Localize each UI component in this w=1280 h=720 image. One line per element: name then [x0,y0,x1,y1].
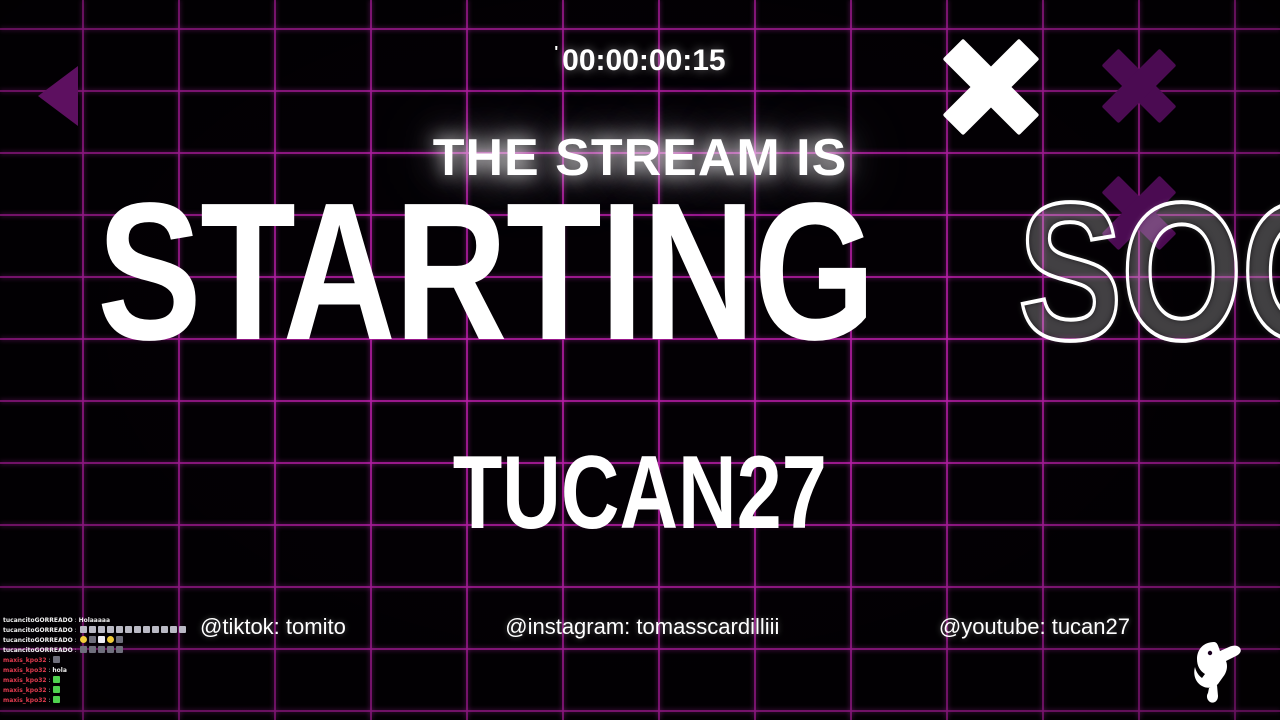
timer-tick-mark: ' [554,46,558,60]
chat-overlay[interactable]: tucancitoGORREADO : HolaaaaatucancitoGOR… [0,616,200,706]
chat-emote-icon [98,646,105,653]
chat-line: maxis_kpo32 : hola [0,666,200,676]
chat-emote-icon [116,646,123,653]
chat-emote-icon [53,656,60,663]
chat-separator: : [47,677,53,684]
chat-username: tucancitoGORREADO [3,617,73,624]
chat-line: tucancitoGORREADO : [0,636,200,646]
chat-line: maxis_kpo32 : [0,696,200,706]
headline-word-soon: SOON [1018,192,1280,352]
social-handle-youtube: @youtube: tucan27 [939,614,1130,640]
chat-separator: : [47,697,53,704]
chat-emote-icon [107,646,114,653]
chat-line: maxis_kpo32 : [0,656,200,666]
headline-main-line: STARTINGSOON [0,192,1280,415]
social-handles-row: @tiktok: tomito @instagram: tomasscardil… [200,614,1130,640]
chat-separator: : [47,687,53,694]
chat-line: tucancitoGORREADO : [0,646,200,656]
chat-line: maxis_kpo32 : [0,686,200,696]
headline-block: THE STREAM IS STARTINGSOON TUCAN27 [0,130,1280,545]
chat-emote-icon [143,626,150,633]
chat-username: tucancitoGORREADO [3,627,73,634]
chat-separator: : [73,637,79,644]
chat-emote-icon [170,626,177,633]
chat-line: maxis_kpo32 : [0,676,200,686]
chat-emote-icon [116,626,123,633]
chat-username: maxis_kpo32 [3,657,47,664]
chat-username: tucancitoGORREADO [3,637,73,644]
chat-emote-icon [125,626,132,633]
chat-separator: : [73,647,79,654]
chat-emote-icon [134,626,141,633]
chat-line: tucancitoGORREADO : [0,626,200,636]
streamer-name-row: TUCAN27 [0,415,1280,545]
headline-word-starting: STARTING [97,192,874,352]
chat-username: maxis_kpo32 [3,677,47,684]
social-handle-instagram: @instagram: tomasscardilliii [505,614,779,640]
chat-emote-icon [89,626,96,633]
chat-separator: : [47,657,53,664]
chat-emote-icon [107,626,114,633]
countdown-timer: '00:00:00:15 [0,44,1280,78]
chat-username: maxis_kpo32 [3,667,47,674]
chat-message: Holaaaaa [79,617,110,624]
chat-emote-icon [80,626,87,633]
chat-emote-icon [53,696,60,703]
chat-username: maxis_kpo32 [3,697,47,704]
stream-starting-soon-overlay: '00:00:00:15 THE STREAM IS STARTINGSOON … [0,0,1280,720]
chat-username: tucancitoGORREADO [3,647,73,654]
chat-emote-icon [80,636,87,643]
social-handle-tiktok: @tiktok: tomito [200,614,346,640]
chat-message: hola [52,667,67,674]
chat-line: tucancitoGORREADO : Holaaaaa [0,616,200,626]
chat-emote-icon [107,636,114,643]
chat-emote-icon [98,636,105,643]
chat-username: maxis_kpo32 [3,687,47,694]
chat-emote-icon [152,626,159,633]
chat-emote-icon [53,686,60,693]
chat-emote-icon [80,646,87,653]
toucan-logo-icon [1184,632,1248,704]
chat-separator: : [73,627,79,634]
chat-emote-icon [116,636,123,643]
chat-emote-icon [98,626,105,633]
chat-emote-icon [53,676,60,683]
chat-emote-icon [179,626,186,633]
timer-value: 00:00:00:15 [562,44,725,78]
chat-emote-icon [89,646,96,653]
streamer-name: TUCAN27 [453,441,827,545]
chat-emote-icon [161,626,168,633]
chat-emote-icon [89,636,96,643]
